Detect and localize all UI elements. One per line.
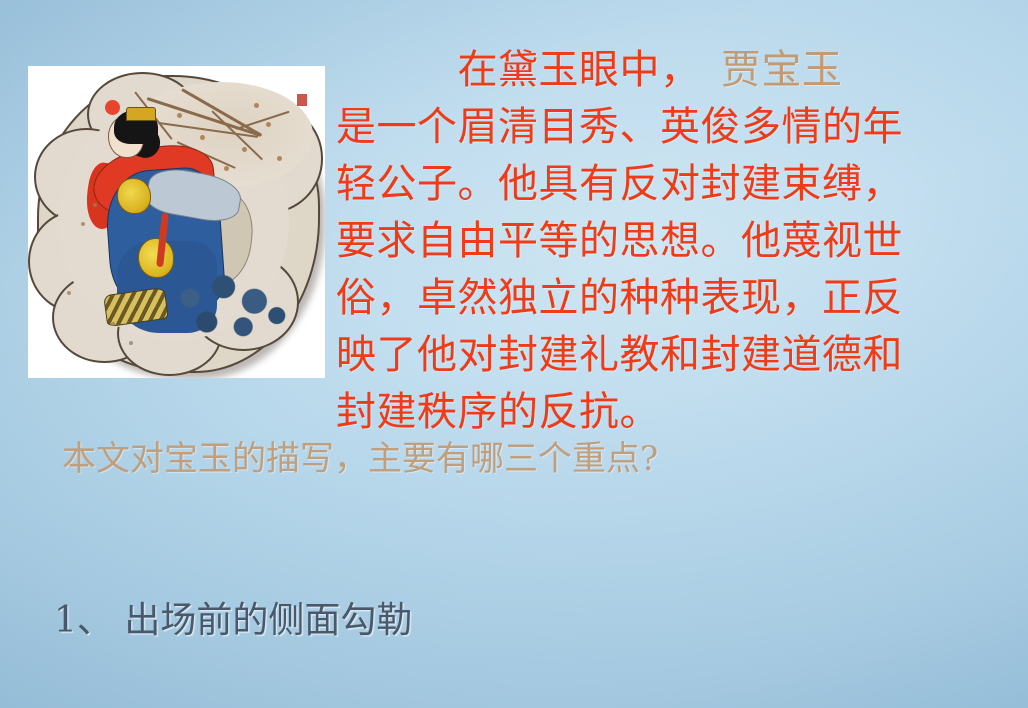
paragraph-line-7: 封建秩序的反抗。 (336, 384, 1020, 441)
plum-blossom-icon (242, 147, 247, 152)
answer-item-1: 1、 出场前的侧面勾勒 (54, 594, 484, 647)
jia-baoyu-painting-image (28, 66, 325, 378)
paragraph-line-1-text: 在黛玉眼中， (336, 47, 681, 93)
ink-speck (67, 291, 71, 295)
answer-list: 1、 出场前的侧面勾勒 2、 出场后的肖像描写 3、 《西江月》二词的总结 (54, 488, 484, 708)
artist-seal-icon (297, 94, 307, 106)
plum-blossom-icon (177, 113, 182, 118)
figure-gold-ornament (117, 178, 151, 214)
ink-speck (129, 341, 133, 345)
paragraph-line-3: 轻公子。他具有反对封建束缚， (336, 156, 1020, 213)
plum-blossom-icon (266, 122, 271, 127)
figure-gold-crown (126, 107, 156, 121)
description-paragraph: 在黛玉眼中， 贾宝玉 是一个眉清目秀、英俊多情的年 轻公子。他具有反对封建束缚，… (336, 42, 1020, 441)
ink-speck (111, 322, 115, 326)
question-text: 本文对宝玉的描写，主要有哪三个重点? (62, 436, 658, 482)
character-name-highlight: 贾宝玉 (681, 47, 843, 93)
paragraph-line-6: 映了他对封建礼教和封建道德和 (336, 327, 1020, 384)
paragraph-line-4: 要求自由平等的思想。他蔑视世 (336, 213, 1020, 270)
paragraph-line-1: 在黛玉眼中， 贾宝玉 (336, 42, 1020, 99)
paragraph-line-2: 是一个眉清目秀、英俊多情的年 (336, 99, 1020, 156)
slide-canvas: 在黛玉眼中， 贾宝玉 是一个眉清目秀、英俊多情的年 轻公子。他具有反对封建束缚，… (0, 0, 1028, 708)
foreground-rocks (162, 266, 302, 346)
plum-blossom-icon (200, 135, 205, 140)
painting-canvas (28, 66, 325, 378)
paragraph-line-5: 俗，卓然独立的种种表现，正反 (336, 270, 1020, 327)
plum-blossom-icon (224, 166, 229, 171)
